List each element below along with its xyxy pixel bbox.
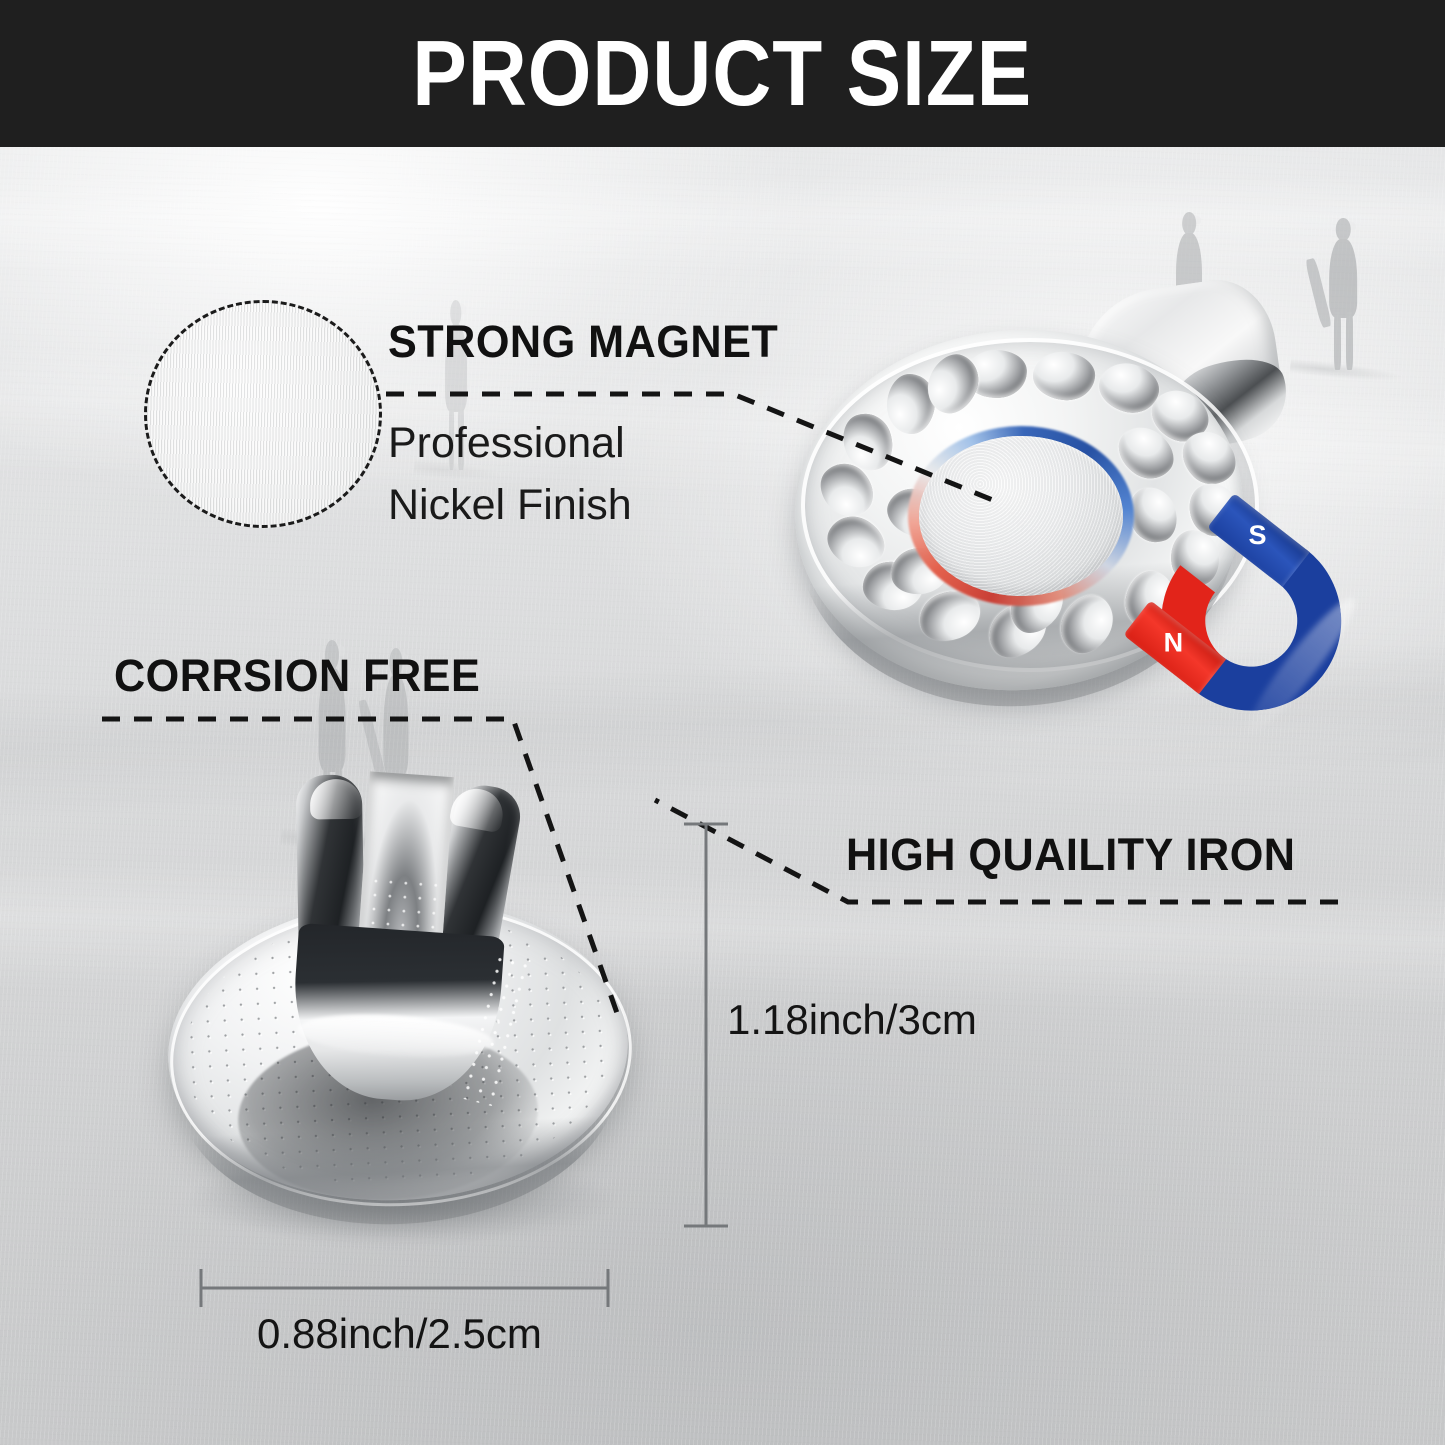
golfer-silhouette-right-2 <box>1310 218 1376 370</box>
magnet-north-label: N <box>1164 628 1184 659</box>
callout-title-strong-magnet: STRONG MAGNET <box>388 316 778 368</box>
callout-subtitle-strong-magnet: Professional Nickel Finish <box>388 412 632 537</box>
callout-subtitle-line-2: Nickel Finish <box>388 474 632 536</box>
title-bar: PRODUCT SIZE <box>0 0 1445 147</box>
page-title: PRODUCT SIZE <box>413 27 1033 120</box>
hat-clip-product <box>168 880 638 1210</box>
dimension-label-width: 0.88inch/2.5cm <box>257 1310 542 1358</box>
marker-center-texture <box>919 436 1123 596</box>
callout-title-high-quality-iron: HIGH QUAILITY IRON <box>846 829 1295 881</box>
dimension-label-height: 1.18inch/3cm <box>727 996 977 1044</box>
divot-fork <box>275 772 527 1117</box>
callout-subtitle-line-1: Professional <box>388 412 632 474</box>
callout-title-corrosion-free: CORRSION FREE <box>114 650 480 702</box>
nickel-finish-swatch <box>144 300 382 528</box>
marker-center-magnet <box>919 436 1123 596</box>
product-size-infographic: PRODUCT SIZE <box>0 0 1445 1445</box>
brushed-metal-grain <box>147 303 379 525</box>
magnet-south-label: S <box>1249 520 1267 551</box>
